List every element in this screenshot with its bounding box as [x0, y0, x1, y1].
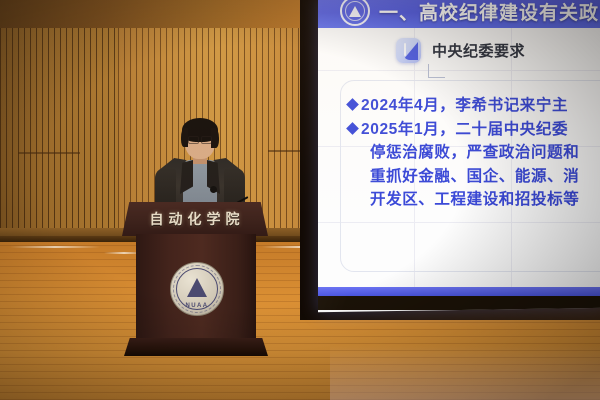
wall-seam	[18, 152, 80, 154]
university-crest-icon	[340, 0, 370, 26]
podium-base	[124, 338, 268, 356]
sail-boat-icon	[396, 38, 421, 63]
wall-slat-panel-left	[0, 28, 118, 234]
screen-lower-bezel	[318, 296, 600, 310]
microphone-capsule	[210, 186, 217, 193]
slide-footer-bar	[318, 287, 600, 296]
slide-guide-line	[318, 70, 600, 71]
podium-name-plate: 自动化学院	[122, 202, 268, 236]
floor-cable	[10, 246, 100, 248]
slide-line: 重抓好金融、国企、能源、消	[348, 165, 600, 189]
speaker-hair-side	[181, 128, 188, 147]
floor-light-reflection	[330, 345, 600, 400]
bullet-diamond-icon	[346, 98, 359, 111]
podium-crest-abbr: NUAA	[171, 303, 223, 309]
slide-body: 2024年4月，李希书记来宁主 2025年1月，二十届中央纪委 停惩治腐败，严查…	[348, 94, 600, 212]
podium-crest-icon: NUAA	[170, 262, 224, 316]
slide-line: 2024年4月，李希书记来宁主	[348, 94, 600, 118]
slide-line: 开发区、工程建设和招投标等	[348, 188, 600, 212]
podium-top: 自动化学院	[122, 202, 268, 236]
projection-screen[interactable]: 一、高校纪律建设有关政 中央纪委要求 2024年4月，李希书记来宁主 2025年…	[318, 0, 600, 312]
podium-plate-text: 自动化学院	[146, 209, 245, 229]
lecture-hall-photo: 一、高校纪律建设有关政 中央纪委要求 2024年4月，李希书记来宁主 2025年…	[0, 0, 600, 400]
slide-subheading-text: 中央纪委要求	[432, 40, 525, 61]
speaker-hair-side	[211, 128, 219, 148]
slide-line: 2025年1月，二十届中央纪委	[348, 118, 600, 142]
slide-subheading: 中央纪委要求	[396, 38, 525, 63]
bullet-diamond-icon	[346, 122, 359, 135]
slide-title: 一、高校纪律建设有关政	[379, 0, 599, 24]
slide-line: 停惩治腐败，严查政治问题和	[348, 141, 600, 165]
slide-header-bar: 一、高校纪律建设有关政	[318, 0, 600, 28]
subheading-corner-rule	[428, 64, 445, 78]
speaker-glasses	[188, 136, 212, 143]
